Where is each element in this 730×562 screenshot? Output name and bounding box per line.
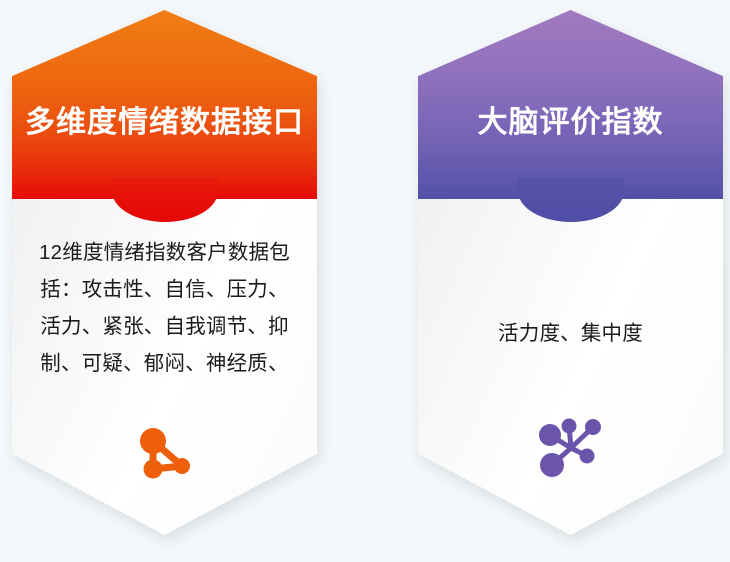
card-header [418, 10, 723, 199]
card-title: 多维度情绪数据接口 [12, 108, 317, 138]
card-emotion-data-interface[interactable]: 多维度情绪数据接口 12维度情绪指数客户数据包括：攻击性、自信、压力、活力、紧张… [12, 10, 317, 535]
network-hub-icon [535, 415, 607, 486]
card-shape: 多维度情绪数据接口 12维度情绪指数客户数据包括：攻击性、自信、压力、活力、紧张… [12, 10, 317, 535]
card-brain-evaluation-index[interactable]: 大脑评价指数 活力度、集中度 [418, 10, 723, 535]
card-header-fill [418, 10, 723, 199]
card-shape: 大脑评价指数 活力度、集中度 [418, 10, 723, 535]
card-description: 活力度、集中度 [440, 315, 701, 352]
card-description: 12维度情绪指数客户数据包括：攻击性、自信、压力、活力、紧张、自我调节、抑制、可… [34, 234, 295, 382]
card-title: 大脑评价指数 [418, 108, 723, 138]
card-header-fill [12, 10, 317, 199]
cards-stage: 多维度情绪数据接口 12维度情绪指数客户数据包括：攻击性、自信、压力、活力、紧张… [0, 0, 730, 562]
molecule-node-icon [133, 426, 197, 489]
card-header [12, 10, 317, 199]
